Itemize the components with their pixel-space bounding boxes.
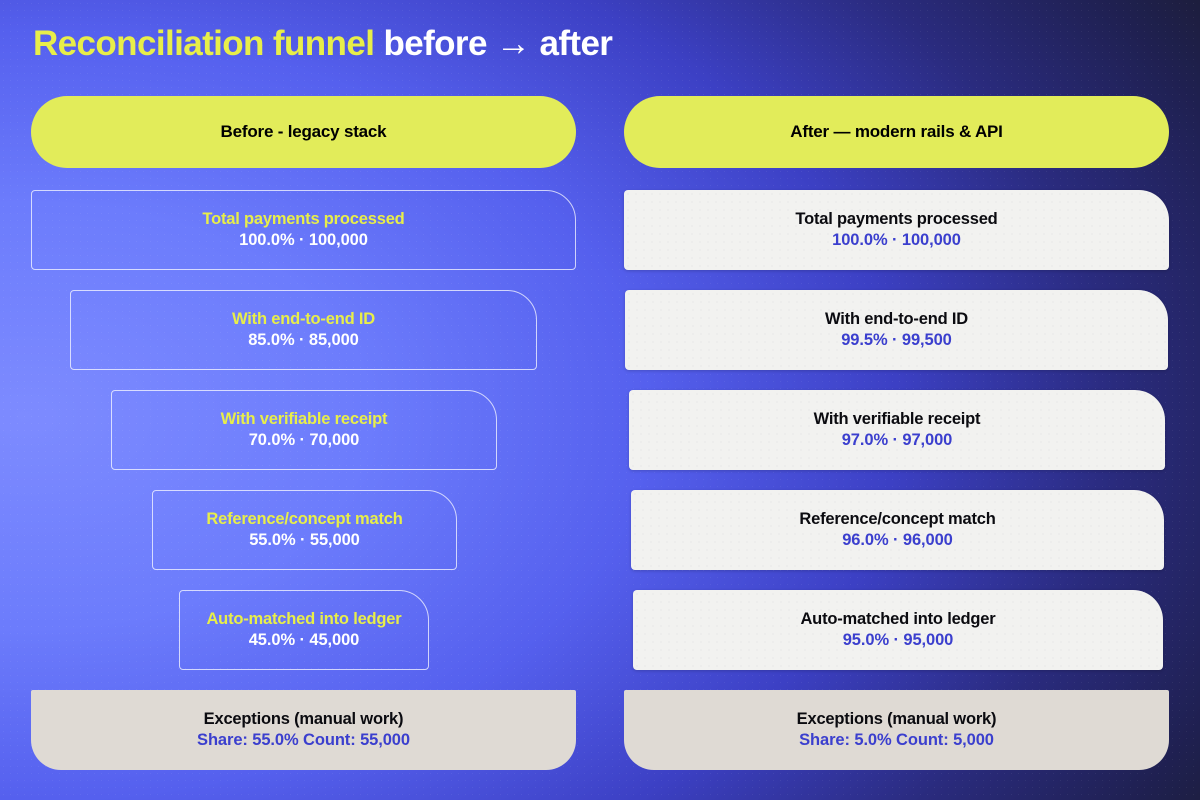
after-step-4-label: Reference/concept match — [799, 510, 995, 529]
before-step-4-label: Reference/concept match — [206, 510, 402, 529]
before-step-2[interactable]: With end-to-end ID 85.0% · 85,000 — [70, 290, 537, 370]
after-step-5-label: Auto-matched into ledger — [800, 610, 995, 629]
after-column: After — modern rails & API Total payment… — [624, 96, 1169, 770]
after-step-1-label: Total payments processed — [795, 210, 997, 229]
after-exceptions-label: Exceptions (manual work) — [797, 710, 997, 729]
page-title-plain: before → after — [383, 24, 612, 63]
after-header-pill: After — modern rails & API — [624, 96, 1169, 168]
after-step-4-value: 96.0% · 96,000 — [842, 531, 953, 550]
after-step-5-value: 95.0% · 95,000 — [843, 631, 954, 650]
before-step-1-label: Total payments processed — [202, 210, 404, 229]
page-title: Reconciliation funnel before → after — [33, 24, 612, 64]
before-step-5[interactable]: Auto-matched into ledger 45.0% · 45,000 — [179, 590, 429, 670]
before-column: Before - legacy stack Total payments pro… — [31, 96, 576, 770]
after-step-2-value: 99.5% · 99,500 — [841, 331, 952, 350]
after-step-1-value: 100.0% · 100,000 — [832, 231, 961, 250]
after-step-2[interactable]: With end-to-end ID 99.5% · 99,500 — [625, 290, 1168, 370]
before-exceptions-label: Exceptions (manual work) — [204, 710, 404, 729]
after-exceptions-bar[interactable]: Exceptions (manual work) Share: 5.0% Cou… — [624, 690, 1169, 770]
page-title-accent: Reconciliation funnel — [33, 24, 374, 63]
after-step-2-label: With end-to-end ID — [825, 310, 968, 329]
before-exceptions-bar[interactable]: Exceptions (manual work) Share: 55.0% Co… — [31, 690, 576, 770]
after-step-3-value: 97.0% · 97,000 — [842, 431, 953, 450]
before-step-3-value: 70.0% · 70,000 — [249, 431, 360, 450]
before-header-label: Before - legacy stack — [221, 122, 387, 142]
before-step-4-value: 55.0% · 55,000 — [249, 531, 360, 550]
before-step-2-label: With end-to-end ID — [232, 310, 375, 329]
after-step-1[interactable]: Total payments processed 100.0% · 100,00… — [624, 190, 1169, 270]
after-funnel-steps: Total payments processed 100.0% · 100,00… — [624, 190, 1169, 670]
after-header-label: After — modern rails & API — [790, 122, 1002, 142]
after-step-3[interactable]: With verifiable receipt 97.0% · 97,000 — [629, 390, 1165, 470]
after-step-3-label: With verifiable receipt — [814, 410, 981, 429]
before-step-3-label: With verifiable receipt — [221, 410, 388, 429]
before-step-1[interactable]: Total payments processed 100.0% · 100,00… — [31, 190, 576, 270]
after-step-5[interactable]: Auto-matched into ledger 95.0% · 95,000 — [633, 590, 1163, 670]
after-step-4[interactable]: Reference/concept match 96.0% · 96,000 — [631, 490, 1164, 570]
before-exceptions-value: Share: 55.0% Count: 55,000 — [197, 731, 410, 750]
before-step-1-value: 100.0% · 100,000 — [239, 231, 368, 250]
before-step-3[interactable]: With verifiable receipt 70.0% · 70,000 — [111, 390, 497, 470]
before-step-5-value: 45.0% · 45,000 — [249, 631, 360, 650]
before-step-5-label: Auto-matched into ledger — [206, 610, 401, 629]
before-funnel-steps: Total payments processed 100.0% · 100,00… — [31, 190, 576, 670]
before-step-2-value: 85.0% · 85,000 — [248, 331, 359, 350]
before-header-pill: Before - legacy stack — [31, 96, 576, 168]
after-exceptions-value: Share: 5.0% Count: 5,000 — [799, 731, 994, 750]
before-step-4[interactable]: Reference/concept match 55.0% · 55,000 — [152, 490, 457, 570]
